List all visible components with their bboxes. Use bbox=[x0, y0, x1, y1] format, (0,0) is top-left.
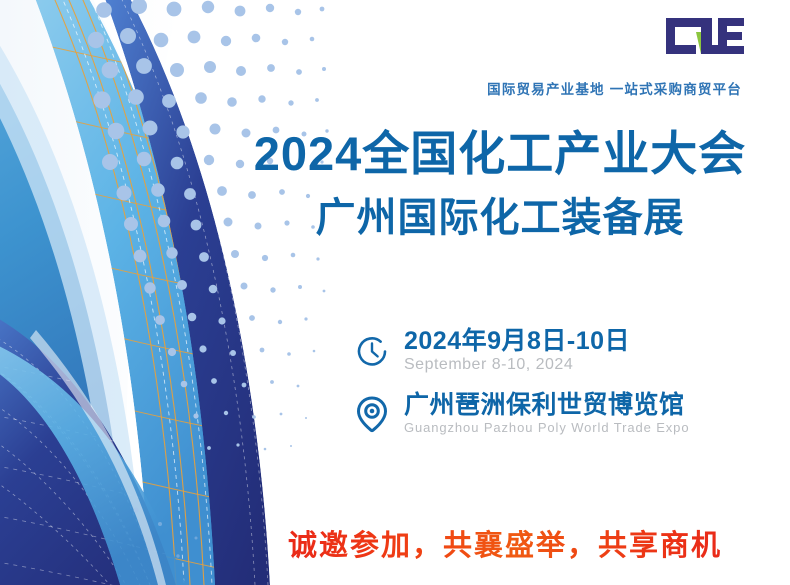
clock-icon bbox=[352, 329, 392, 373]
exhibition-poster: 国际贸易产业基地 一站式采购商贸平台 2024全国化工产业大会 广州国际化工装备… bbox=[0, 0, 790, 585]
page-title-line2: 广州国际化工装备展 bbox=[250, 196, 750, 240]
event-info: 2024年9月8日-10日 September 8-10, 2024 广州琶洲保… bbox=[352, 327, 790, 453]
event-venue-cn: 广州琶洲保利世贸博览馆 bbox=[404, 391, 685, 419]
arc-sky bbox=[28, 0, 238, 585]
arc-pale bbox=[0, 0, 108, 585]
event-date-cn: 2024年9月8日-10日 bbox=[404, 327, 630, 355]
event-date-en: September 8-10, 2024 bbox=[404, 356, 573, 373]
cje-logo bbox=[662, 14, 746, 58]
tagline: 国际贸易产业基地 一站式采购商贸平台 bbox=[487, 78, 742, 98]
slogan: 诚邀参加，共襄盛举，共享商机 bbox=[250, 522, 760, 564]
poster-content: 国际贸易产业基地 一站式采购商贸平台 2024全国化工产业大会 广州国际化工装备… bbox=[250, 0, 790, 585]
arc-deep bbox=[98, 0, 270, 585]
page-title-line1: 2024全国化工产业大会 bbox=[250, 128, 750, 180]
event-venue-row: 广州琶洲保利世贸博览馆 Guangzhou Pazhou Poly World … bbox=[352, 391, 790, 437]
location-pin-icon bbox=[352, 392, 392, 436]
event-venue-en: Guangzhou Pazhou Poly World Trade Expo bbox=[404, 420, 689, 435]
event-date-row: 2024年9月8日-10日 September 8-10, 2024 bbox=[352, 327, 790, 375]
arc-mid bbox=[0, 0, 128, 585]
